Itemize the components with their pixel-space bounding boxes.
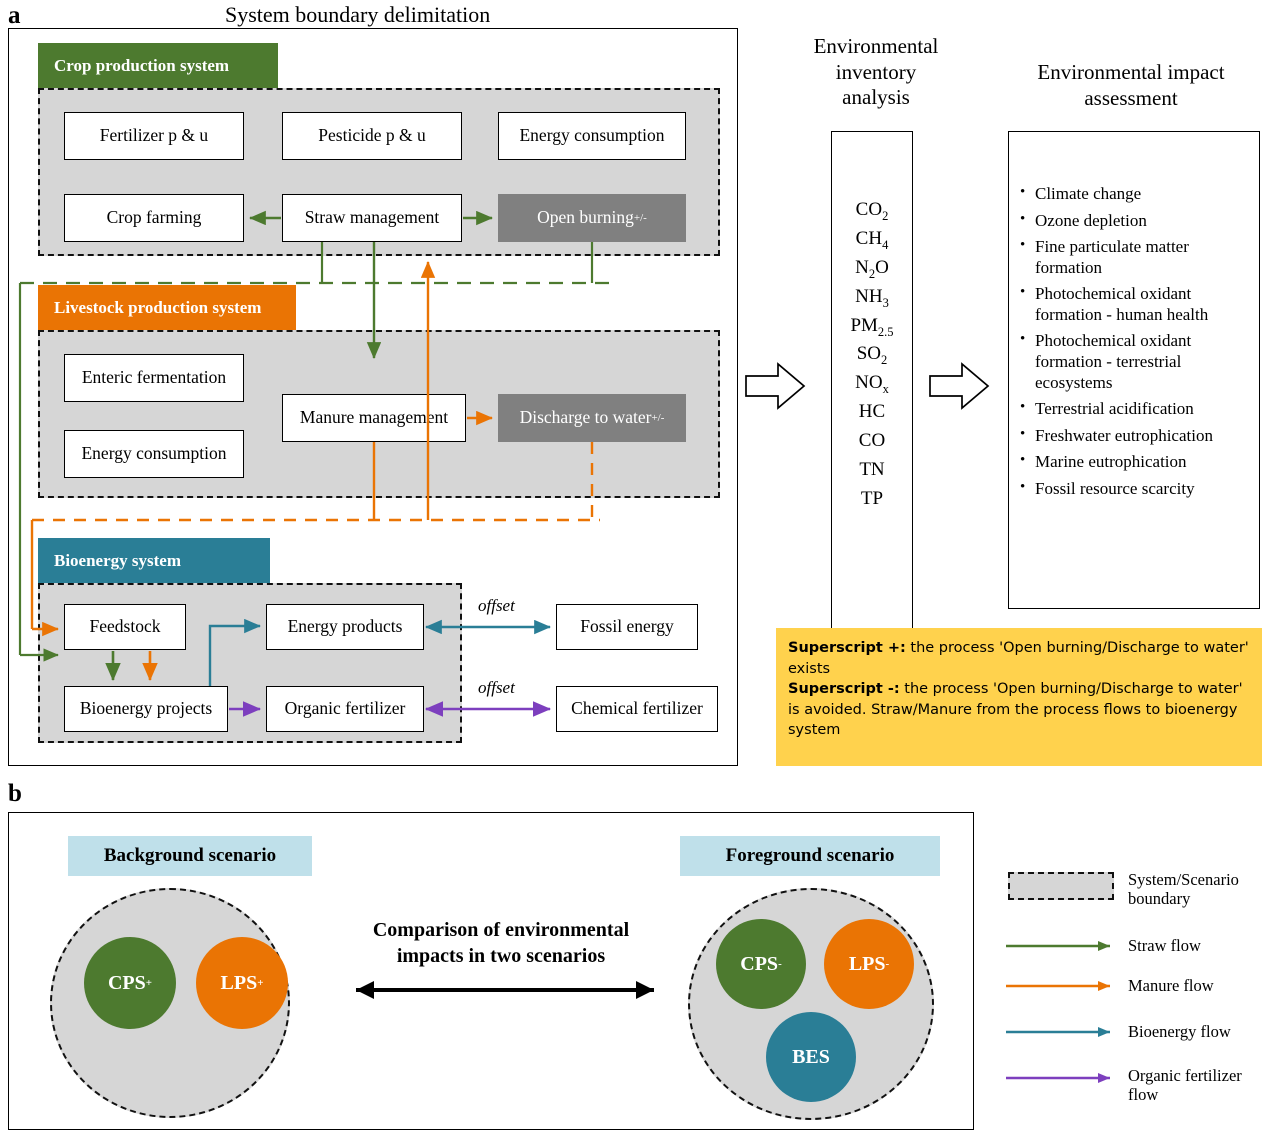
background-scenario-label-text: Background scenario — [104, 845, 276, 867]
box-pesticide-p-u[interactable]: Pesticide p & u — [282, 112, 462, 160]
impact-item: Terrestrial acidification — [1035, 399, 1249, 420]
impact-item: Fossil resource scarcity — [1035, 479, 1249, 500]
box-crop-energy-consumption[interactable]: Energy consumption — [498, 112, 686, 160]
impact-item: Ozone depletion — [1035, 211, 1249, 232]
inventory-item: N2O — [832, 254, 912, 283]
box-enteric-fermentation[interactable]: Enteric fermentation — [64, 354, 244, 402]
circle-bes-text: BES — [792, 1046, 830, 1069]
offset-label-energy: offset — [478, 596, 515, 616]
impact-item: Marine eutrophication — [1035, 452, 1249, 473]
panel-b-letter: b — [8, 780, 22, 808]
inventory-item: NOx — [832, 369, 912, 398]
block-arrow-to-impact — [928, 362, 992, 412]
inventory-title: Environmental inventory analysis — [790, 34, 962, 111]
impact-item: Photochemical oxidant formation - human … — [1035, 284, 1249, 325]
box-crop-energy-consumption-label: Energy consumption — [519, 126, 664, 145]
bioenergy-system-header: Bioenergy system — [38, 538, 270, 583]
panel-a-letter: a — [8, 2, 21, 30]
impact-item: Freshwater eutrophication — [1035, 426, 1249, 447]
box-fertilizer-p-u-label: Fertilizer p & u — [100, 126, 208, 145]
superscript-note: Superscript +: the process 'Open burning… — [776, 628, 1262, 766]
box-straw-management-label: Straw management — [305, 208, 440, 227]
box-energy-products[interactable]: Energy products — [266, 604, 424, 650]
circle-bes: BES — [766, 1012, 856, 1102]
inventory-item: CO — [832, 427, 912, 456]
inventory-item: TP — [832, 485, 912, 514]
box-feedstock-label: Feedstock — [90, 617, 161, 636]
circle-cps-plus: CPS+ — [84, 937, 176, 1029]
box-manure-management-label: Manure management — [300, 408, 448, 427]
box-organic-fertilizer-label: Organic fertilizer — [285, 699, 406, 718]
circle-cps-minus: CPS- — [716, 919, 806, 1009]
box-crop-farming-label: Crop farming — [107, 208, 202, 227]
foreground-scenario-label: Foreground scenario — [680, 836, 940, 876]
inventory-item: NH3 — [832, 283, 912, 312]
box-discharge-to-water[interactable]: Discharge to water+/- — [498, 394, 686, 442]
foreground-scenario-label-text: Foreground scenario — [726, 845, 895, 867]
note-line-plus: Superscript +: the process 'Open burning… — [788, 638, 1250, 679]
box-open-burning-label: Open burning — [537, 208, 634, 227]
circle-cps-plus-text: CPS — [108, 972, 146, 995]
crop-system-header-label: Crop production system — [54, 56, 229, 76]
block-arrow-to-inventory — [744, 362, 808, 412]
impact-title: Environmental impact assessment — [1000, 60, 1262, 111]
inventory-item: CH4 — [832, 225, 912, 254]
impact-item: Fine particulate matter formation — [1035, 237, 1249, 278]
offset-label-fertilizer: offset — [478, 678, 515, 698]
note-minus-label: Superscript -: — [788, 681, 900, 697]
inventory-item: CO2 — [832, 196, 912, 225]
inventory-title-line-1: Environmental — [790, 34, 962, 60]
note-plus-label: Superscript +: — [788, 640, 906, 656]
box-fossil-energy-label: Fossil energy — [580, 617, 674, 636]
inventory-item: PM2.5 — [832, 312, 912, 341]
box-organic-fertilizer[interactable]: Organic fertilizer — [266, 686, 424, 732]
inventory-title-line-3: analysis — [790, 85, 962, 111]
circle-lps-plus: LPS+ — [196, 937, 288, 1029]
box-energy-products-label: Energy products — [288, 617, 403, 636]
comparison-line-1: Comparison of environmental — [336, 918, 666, 944]
crop-system-header: Crop production system — [38, 43, 278, 88]
inventory-item: HC — [832, 398, 912, 427]
box-livestock-energy-consumption-label: Energy consumption — [81, 444, 226, 463]
legend-organic-fertilizer-label: Organic fertilizer flow — [1128, 1066, 1260, 1104]
circle-lps-minus-text: LPS — [849, 953, 886, 976]
box-straw-management[interactable]: Straw management — [282, 194, 462, 242]
impact-title-line-1: Environmental impact — [1000, 60, 1262, 86]
livestock-system-header-label: Livestock production system — [54, 298, 261, 318]
legend-straw-arrow — [1004, 940, 1124, 952]
legend-straw-label: Straw flow — [1128, 936, 1262, 955]
note-line-minus: Superscript -: the process 'Open burning… — [788, 679, 1250, 741]
bioenergy-system-header-label: Bioenergy system — [54, 551, 181, 571]
box-livestock-energy-consumption[interactable]: Energy consumption — [64, 430, 244, 478]
panel-a-title: System boundary delimitation — [225, 2, 490, 28]
box-fossil-energy[interactable]: Fossil energy — [556, 604, 698, 650]
box-discharge-to-water-label: Discharge to water — [520, 408, 652, 427]
impact-title-line-2: assessment — [1000, 86, 1262, 112]
box-chemical-fertilizer[interactable]: Chemical fertilizer — [556, 686, 718, 732]
legend-bioenergy-arrow — [1004, 1026, 1124, 1038]
box-crop-farming[interactable]: Crop farming — [64, 194, 244, 242]
comparison-line-2: impacts in two scenarios — [336, 944, 666, 970]
legend-manure-arrow — [1004, 980, 1124, 992]
box-pesticide-p-u-label: Pesticide p & u — [318, 126, 425, 145]
box-bioenergy-projects-label: Bioenergy projects — [80, 699, 212, 718]
legend-manure-label: Manure flow — [1128, 976, 1262, 995]
box-fertilizer-p-u[interactable]: Fertilizer p & u — [64, 112, 244, 160]
inventory-item: TN — [832, 456, 912, 485]
box-chemical-fertilizer-label: Chemical fertilizer — [571, 699, 703, 718]
inventory-box: CO2 CH4 N2O NH3 PM2.5 SO2 NOx HC CO TN T… — [831, 131, 913, 629]
legend-bioenergy-label: Bioenergy flow — [1128, 1022, 1262, 1041]
box-manure-management[interactable]: Manure management — [282, 394, 466, 442]
comparison-text: Comparison of environmental impacts in t… — [336, 918, 666, 969]
box-open-burning[interactable]: Open burning+/- — [498, 194, 686, 242]
circle-lps-plus-text: LPS — [221, 972, 258, 995]
circle-cps-minus-text: CPS — [740, 953, 778, 976]
impact-item: Climate change — [1035, 184, 1249, 205]
inventory-title-line-2: inventory — [790, 60, 962, 86]
background-scenario-label: Background scenario — [68, 836, 312, 876]
box-enteric-fermentation-label: Enteric fermentation — [82, 368, 226, 387]
impact-item: Photochemical oxidant formation - terres… — [1035, 331, 1249, 393]
legend-boundary-label: System/Scenario boundary — [1128, 870, 1260, 908]
circle-lps-minus: LPS- — [824, 919, 914, 1009]
box-feedstock[interactable]: Feedstock — [64, 604, 186, 650]
legend-organic-fertilizer-arrow — [1004, 1072, 1124, 1084]
impact-box: Climate change Ozone depletion Fine part… — [1008, 131, 1260, 609]
inventory-item: SO2 — [832, 340, 912, 369]
livestock-system-header: Livestock production system — [38, 285, 296, 330]
comparison-double-arrow — [340, 978, 670, 1002]
legend-boundary-swatch — [1008, 872, 1114, 900]
box-bioenergy-projects[interactable]: Bioenergy projects — [64, 686, 228, 732]
